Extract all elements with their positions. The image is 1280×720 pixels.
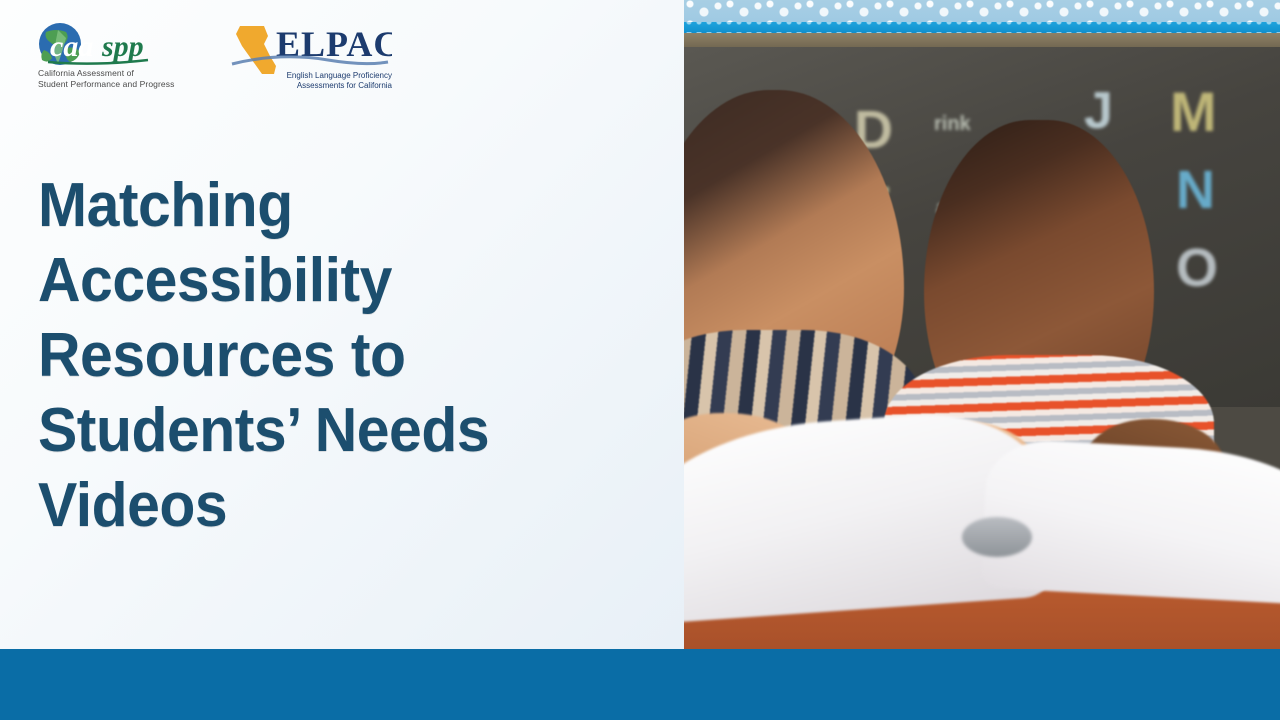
classroom-photo: D E F rink at un J K L M N O (684, 0, 1280, 649)
caaspp-subtitle: California Assessment of Student Perform… (38, 68, 174, 89)
logo-row: caa spp California Assessment of Student… (36, 22, 392, 96)
photo-book-right-page (980, 438, 1280, 607)
left-content-panel: caa spp California Assessment of Student… (0, 0, 684, 649)
elpac-wordmark-icon: ELPAC (224, 22, 392, 74)
elpac-subtitle: English Language Proficiency Assessments… (287, 71, 392, 91)
caaspp-logo: caa spp California Assessment of Student… (36, 22, 188, 94)
slide-title: Matching Accessibility Resources to Stud… (38, 168, 646, 543)
svg-text:spp: spp (101, 30, 144, 63)
svg-text:caa: caa (50, 30, 93, 63)
photo-book-spine (962, 517, 1032, 557)
title-slide: caa spp California Assessment of Student… (0, 0, 1280, 720)
caaspp-wordmark-icon: caa spp (36, 22, 188, 70)
elpac-logo: ELPAC English Language Proficiency Asses… (224, 22, 392, 96)
bottom-accent-bar (0, 649, 1280, 720)
